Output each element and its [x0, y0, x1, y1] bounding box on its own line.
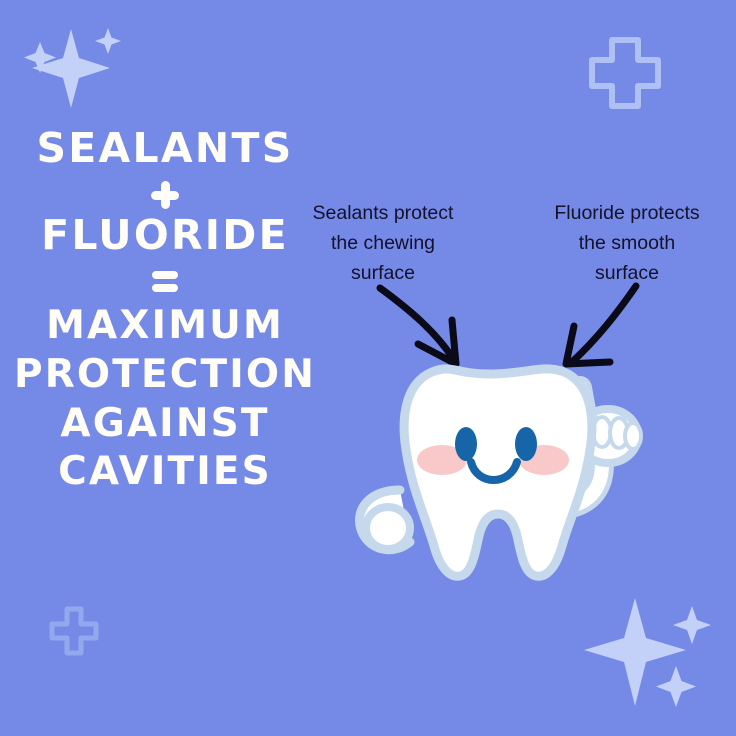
callout-sealants: Sealants protect the chewing surface: [292, 198, 474, 289]
headline-line-maximum: MAXIMUM: [0, 302, 330, 351]
cross-bottom-left-icon: [46, 604, 102, 665]
tooth-mascot: [330, 340, 650, 605]
headline-line-protection: PROTECTION: [0, 351, 330, 400]
cross-top-right-icon: [578, 34, 672, 119]
callout-sealants-line-2: the chewing: [292, 228, 474, 258]
callout-fluoride: Fluoride protects the smooth surface: [530, 198, 724, 289]
headline-line-sealants: SEALANTS: [0, 128, 330, 169]
headline-operator-plus: [0, 175, 330, 215]
poster-canvas: SEALANTS FLUORIDE MAXIMUM PROTECTION AGA…: [0, 0, 736, 736]
headline-line-fluoride: FLUORIDE: [0, 215, 330, 256]
headline-line-cavities: CAVITIES: [0, 448, 330, 497]
plus-glyph-icon: [150, 180, 180, 210]
callout-sealants-line-1: Sealants protect: [292, 198, 474, 228]
callout-fluoride-line-1: Fluoride protects: [530, 198, 724, 228]
headline-block: SEALANTS FLUORIDE MAXIMUM PROTECTION AGA…: [0, 128, 330, 497]
headline-line-against: AGAINST: [0, 400, 330, 449]
sparkle-cluster-top-left-icon: [14, 12, 134, 127]
equals-glyph-icon: [150, 270, 180, 294]
callout-fluoride-line-2: the smooth: [530, 228, 724, 258]
headline-operator-equals: [0, 262, 330, 302]
